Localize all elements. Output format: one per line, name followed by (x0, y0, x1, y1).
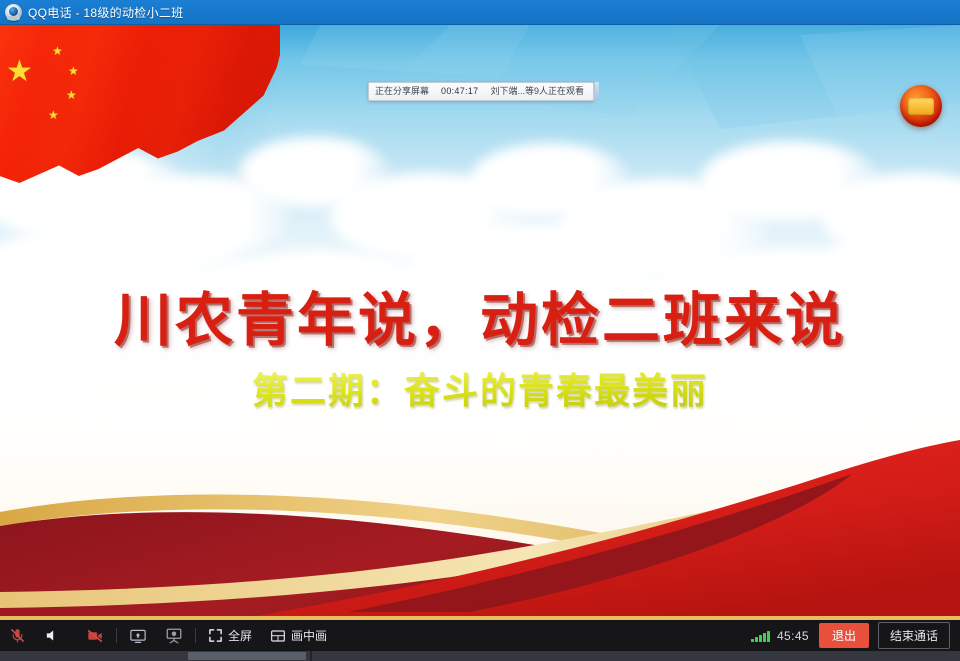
fullscreen-button[interactable]: 全屏 (199, 620, 261, 651)
share-bar-drag-handle[interactable] (594, 82, 599, 101)
speaker-toggle-button[interactable] (35, 620, 70, 651)
share-viewers-label: 刘下端...等9人正在观看 (484, 87, 594, 96)
speaker-icon (44, 627, 61, 644)
end-call-button[interactable]: 结束通话 (878, 622, 950, 649)
screen-share-button[interactable] (120, 620, 156, 651)
picture-in-picture-icon (270, 628, 286, 644)
slide-title: 川农青年说，动检二班来说 (0, 273, 960, 357)
screen-share-status-bar[interactable]: 正在分享屏幕 00:47:17 刘下端...等9人正在观看 (368, 82, 594, 101)
whiteboard-icon (165, 627, 183, 645)
fullscreen-label: 全屏 (228, 627, 252, 644)
camera-muted-icon (86, 627, 104, 645)
window-title-bar: QQ电话 - 18级的动检小二班 (0, 0, 960, 25)
share-elapsed-time: 00:47:17 (435, 87, 484, 96)
microphone-muted-icon (9, 627, 26, 644)
microphone-toggle-button[interactable] (0, 620, 35, 651)
signal-strength-icon (751, 630, 770, 642)
flag-star-small: ★ (52, 45, 63, 57)
flag-star-large: ★ (6, 57, 33, 87)
call-controls-toolbar: 全屏 画中画 45:45 退出 结束通话 (0, 620, 960, 651)
party-emblem-badge (900, 85, 942, 127)
window-title: QQ电话 - 18级的动检小二班 (28, 4, 183, 21)
ribbon-decoration (0, 440, 960, 620)
exit-button[interactable]: 退出 (819, 623, 869, 648)
qq-call-window: QQ电话 - 18级的动检小二班 (0, 0, 960, 661)
fullscreen-icon (208, 628, 223, 643)
screen-share-icon (129, 627, 147, 645)
call-timer: 45:45 (777, 629, 809, 643)
chinese-flag: ★ ★ ★ ★ ★ (0, 25, 280, 205)
taskbar-separator (310, 651, 312, 661)
shared-screen-stage: ★ ★ ★ ★ ★ 川农青年说，动检二班来说 第二期：奋斗的青春最美丽 (0, 25, 960, 620)
picture-in-picture-button[interactable]: 画中画 (261, 620, 336, 651)
slide-subtitle: 第二期：奋斗的青春最美丽 (0, 362, 960, 414)
camera-toggle-button[interactable] (77, 620, 113, 651)
toolbar-divider (116, 628, 117, 643)
picture-in-picture-label: 画中画 (291, 627, 327, 644)
desktop-taskbar-sliver[interactable] (0, 651, 960, 661)
toolbar-divider (195, 628, 196, 643)
taskbar-window-thumb[interactable] (188, 652, 306, 660)
flag-star-small: ★ (48, 109, 59, 121)
whiteboard-button[interactable] (156, 620, 192, 651)
flag-star-small: ★ (66, 89, 77, 101)
flag-star-small: ★ (68, 65, 79, 77)
share-status-label: 正在分享屏幕 (369, 87, 435, 96)
webcam-icon (5, 4, 22, 21)
